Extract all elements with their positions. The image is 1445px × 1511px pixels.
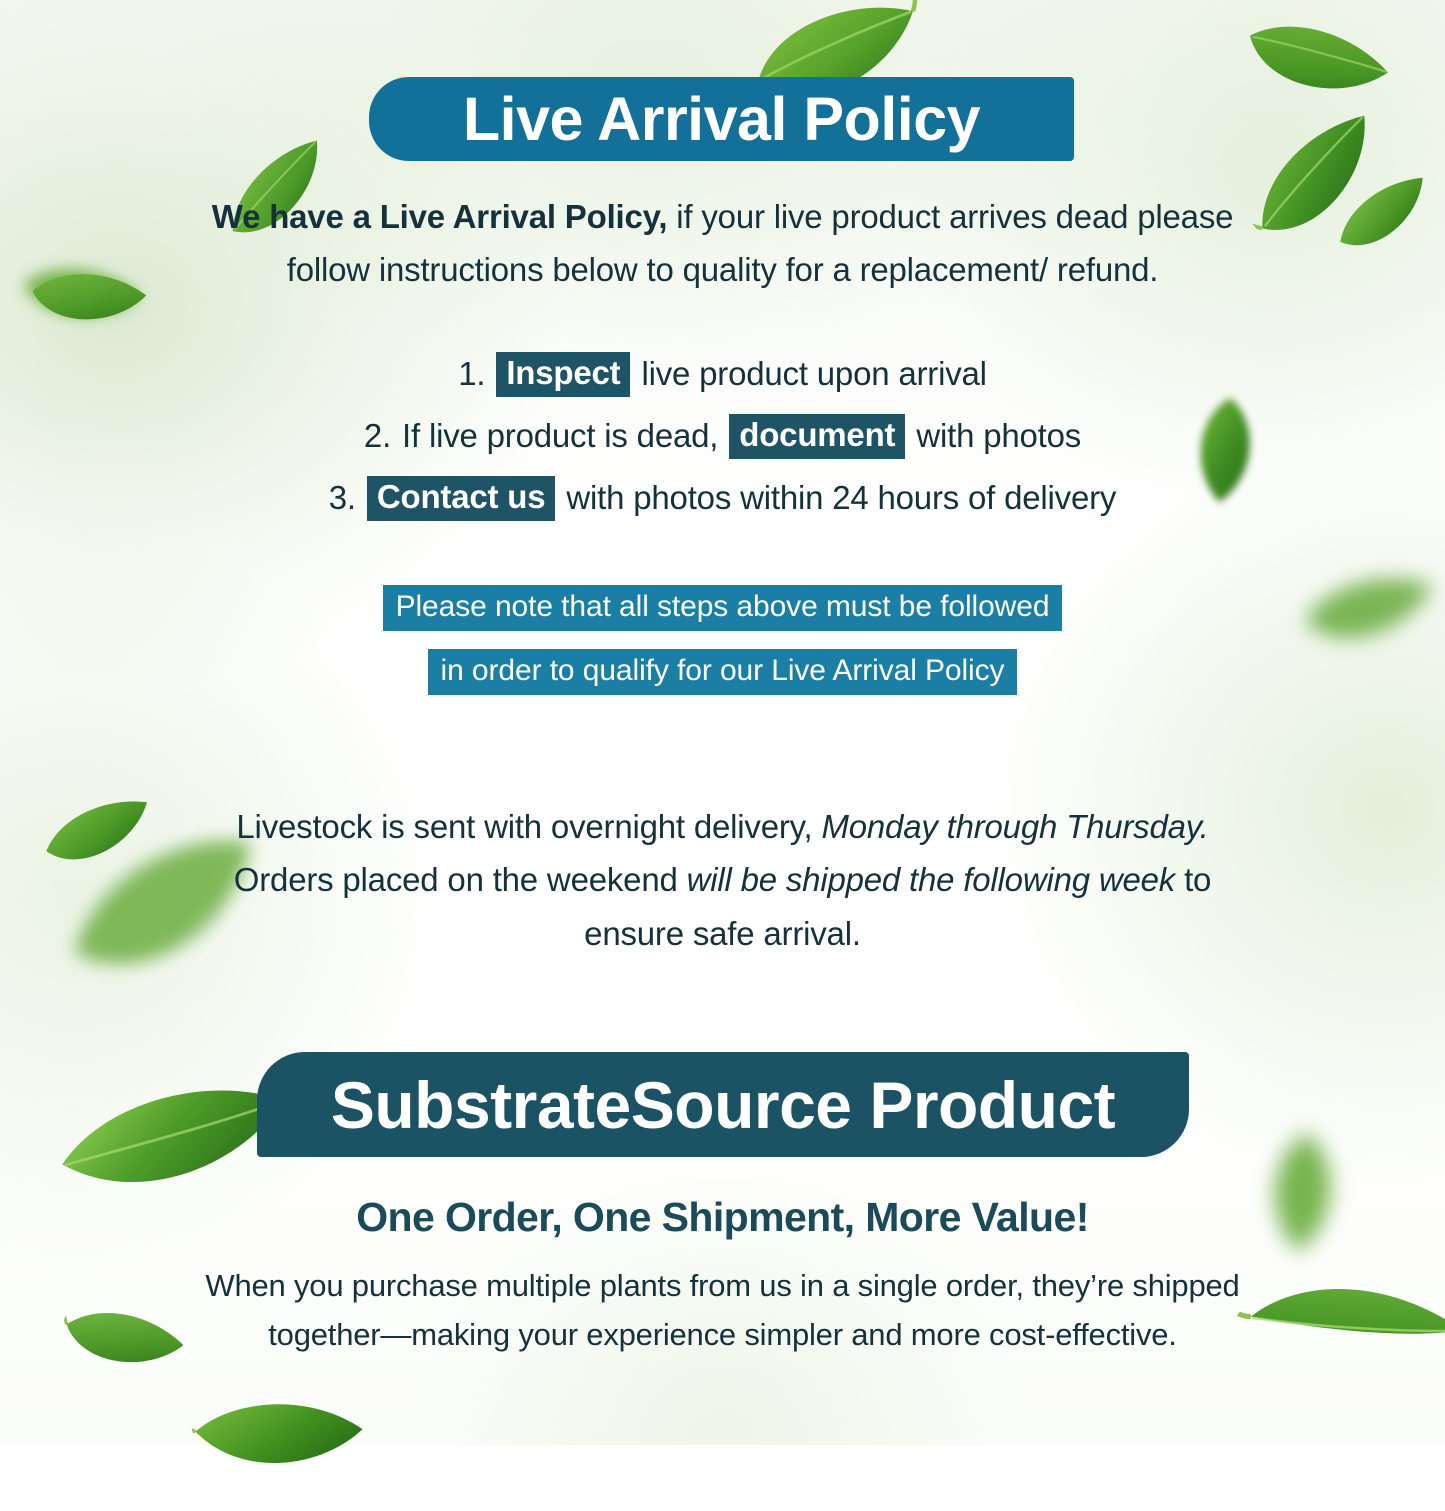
- note-line-2: in order to qualify for our Live Arrival…: [428, 649, 1018, 695]
- step-text: with photos: [916, 417, 1081, 455]
- step-chip-inspect[interactable]: Inspect: [496, 352, 630, 397]
- step-text: live product upon arrival: [641, 355, 986, 393]
- shipping-text-1: Livestock is sent with overnight deliver…: [236, 808, 821, 845]
- steps-list: 1. Inspect live product upon arrival 2. …: [0, 352, 1445, 538]
- shipping-text-2: Orders placed on the weekend: [234, 861, 687, 898]
- value-proposition-heading: One Order, One Shipment, More Value!: [0, 1194, 1445, 1241]
- step-chip-document[interactable]: document: [729, 414, 905, 459]
- intro-paragraph: We have a Live Arrival Policy, if your l…: [0, 190, 1445, 297]
- value-proposition-paragraph: When you purchase multiple plants from u…: [0, 1262, 1445, 1360]
- step-chip-contact-us[interactable]: Contact us: [367, 476, 556, 521]
- shipping-italic-1: Monday through Thursday.: [821, 808, 1208, 845]
- step-text: with photos within 24 hours of delivery: [566, 479, 1116, 517]
- step-number: 3.: [329, 479, 356, 517]
- note-line-1: Please note that all steps above must be…: [383, 585, 1063, 631]
- shipping-italic-2: will be shipped the following week: [687, 861, 1176, 898]
- list-item: 1. Inspect live product upon arrival: [0, 352, 1445, 397]
- step-number: 2.: [364, 417, 391, 455]
- step-text-before: If live product is dead,: [402, 417, 718, 455]
- intro-bold-lead: We have a Live Arrival Policy,: [212, 198, 668, 235]
- policy-note-block: Please note that all steps above must be…: [0, 585, 1445, 713]
- substratesource-product-banner: SubstrateSource Product: [257, 1052, 1189, 1157]
- list-item: 2. If live product is dead, document wit…: [0, 414, 1445, 459]
- step-number: 1.: [458, 355, 485, 393]
- list-item: 3. Contact us with photos within 24 hour…: [0, 476, 1445, 521]
- live-arrival-policy-banner: Live Arrival Policy: [369, 77, 1074, 161]
- shipping-paragraph: Livestock is sent with overnight deliver…: [0, 800, 1445, 960]
